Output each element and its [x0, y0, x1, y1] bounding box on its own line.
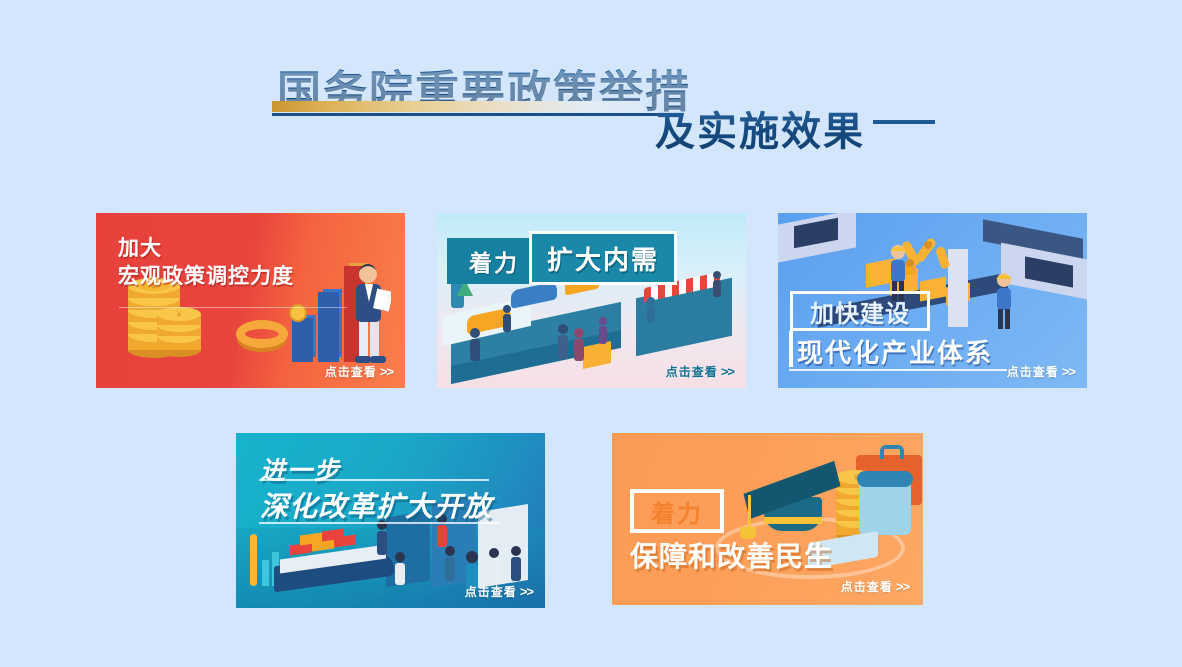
card-3-cta[interactable]: 点击查看>>	[1007, 363, 1075, 380]
mini-bar-highlight	[250, 534, 257, 586]
card-3-title-line-1: 加快建设	[810, 294, 910, 329]
card-1-cta-label: 点击查看	[325, 365, 377, 379]
policy-card-macro-control[interactable]: 加大 宏观政策调控力度 ¥ ¥	[96, 213, 405, 388]
graduation-cap-band	[764, 517, 822, 524]
card-1-cta-arrows: >>	[380, 364, 393, 379]
card-4-cta[interactable]: 点击查看>>	[465, 583, 533, 600]
graduation-cap-tassel	[748, 495, 751, 529]
factory-worker-icon-2	[992, 271, 1016, 333]
card-4-rule-2	[259, 522, 499, 524]
policy-card-peoples-livelihood[interactable]: ¥ 着力 保障和改善民生 点击查看>>	[612, 433, 923, 605]
briefcase-handle-icon	[880, 445, 904, 459]
card-1-cta[interactable]: 点击查看>>	[325, 363, 393, 380]
card-3-title-underline	[789, 369, 1007, 371]
coin-stack-small-icon: ¥	[155, 300, 203, 358]
card-2-title-box: 扩大内需	[529, 231, 677, 285]
card-4-title-line-2: 深化改革扩大开放	[260, 485, 492, 525]
card-2-cta-arrows: >>	[721, 364, 734, 379]
bar-chart-bar-1	[292, 318, 313, 362]
policy-card-reform-opening[interactable]: 进一步 深化改革扩大开放 点击查看>>	[236, 433, 545, 608]
card-2-title-line-1: 着力	[469, 244, 519, 278]
card-3-cta-label: 点击查看	[1007, 365, 1059, 379]
car-blue-icon	[511, 281, 557, 309]
svg-text:¥: ¥	[176, 310, 182, 319]
card-2-cta[interactable]: 点击查看>>	[666, 363, 734, 380]
title-decor-dash	[873, 120, 935, 124]
card-5-title-line-2: 保障和改善民生	[630, 535, 833, 575]
card-4-cta-arrows: >>	[520, 584, 533, 599]
policy-card-expand-demand[interactable]: 着力 扩大内需 点击查看>>	[437, 213, 746, 388]
page-title-line-2: 及实施效果	[655, 99, 865, 157]
card-2-cta-label: 点击查看	[666, 365, 718, 379]
title-rule-underline	[272, 113, 658, 116]
card-1-title: 加大 宏观政策调控力度	[118, 235, 294, 290]
card-5-cta-label: 点击查看	[841, 580, 893, 594]
medicine-jar-lid	[857, 471, 913, 487]
card-2-title-line-2: 扩大内需	[547, 240, 659, 277]
card-1-title-rule	[119, 307, 347, 308]
businessman-illustration	[345, 258, 391, 370]
page-header: 国务院重要政策举措 及实施效果	[0, 0, 1182, 180]
card-5-cta[interactable]: 点击查看>>	[841, 578, 909, 595]
card-5-title-box: 着力	[630, 489, 724, 533]
card-3-title-box: 加快建设	[790, 291, 930, 331]
card-5-title-line-1: 着力	[651, 494, 703, 529]
coin-ring-icon	[236, 320, 288, 348]
card-4-rule-1	[259, 479, 489, 481]
title-gold-underline	[272, 101, 644, 112]
bar-chart-bar-2	[318, 292, 339, 362]
card-3-cta-arrows: >>	[1062, 364, 1075, 379]
card-2-title-badge: 着力	[447, 238, 541, 284]
package-box-icon	[583, 341, 611, 369]
card-3-title-accent-bar	[789, 331, 793, 367]
card-5-cta-arrows: >>	[896, 579, 909, 594]
policy-card-modern-industry[interactable]: 加快建设 现代化产业体系 点击查看>>	[778, 213, 1087, 388]
medicine-jar-icon	[859, 479, 911, 535]
card-4-title-line-1: 进一步	[260, 451, 341, 487]
card-3-title-line-2: 现代化产业体系	[797, 333, 993, 370]
card-4-cta-label: 点击查看	[465, 585, 517, 599]
mini-bar-1	[262, 560, 269, 586]
